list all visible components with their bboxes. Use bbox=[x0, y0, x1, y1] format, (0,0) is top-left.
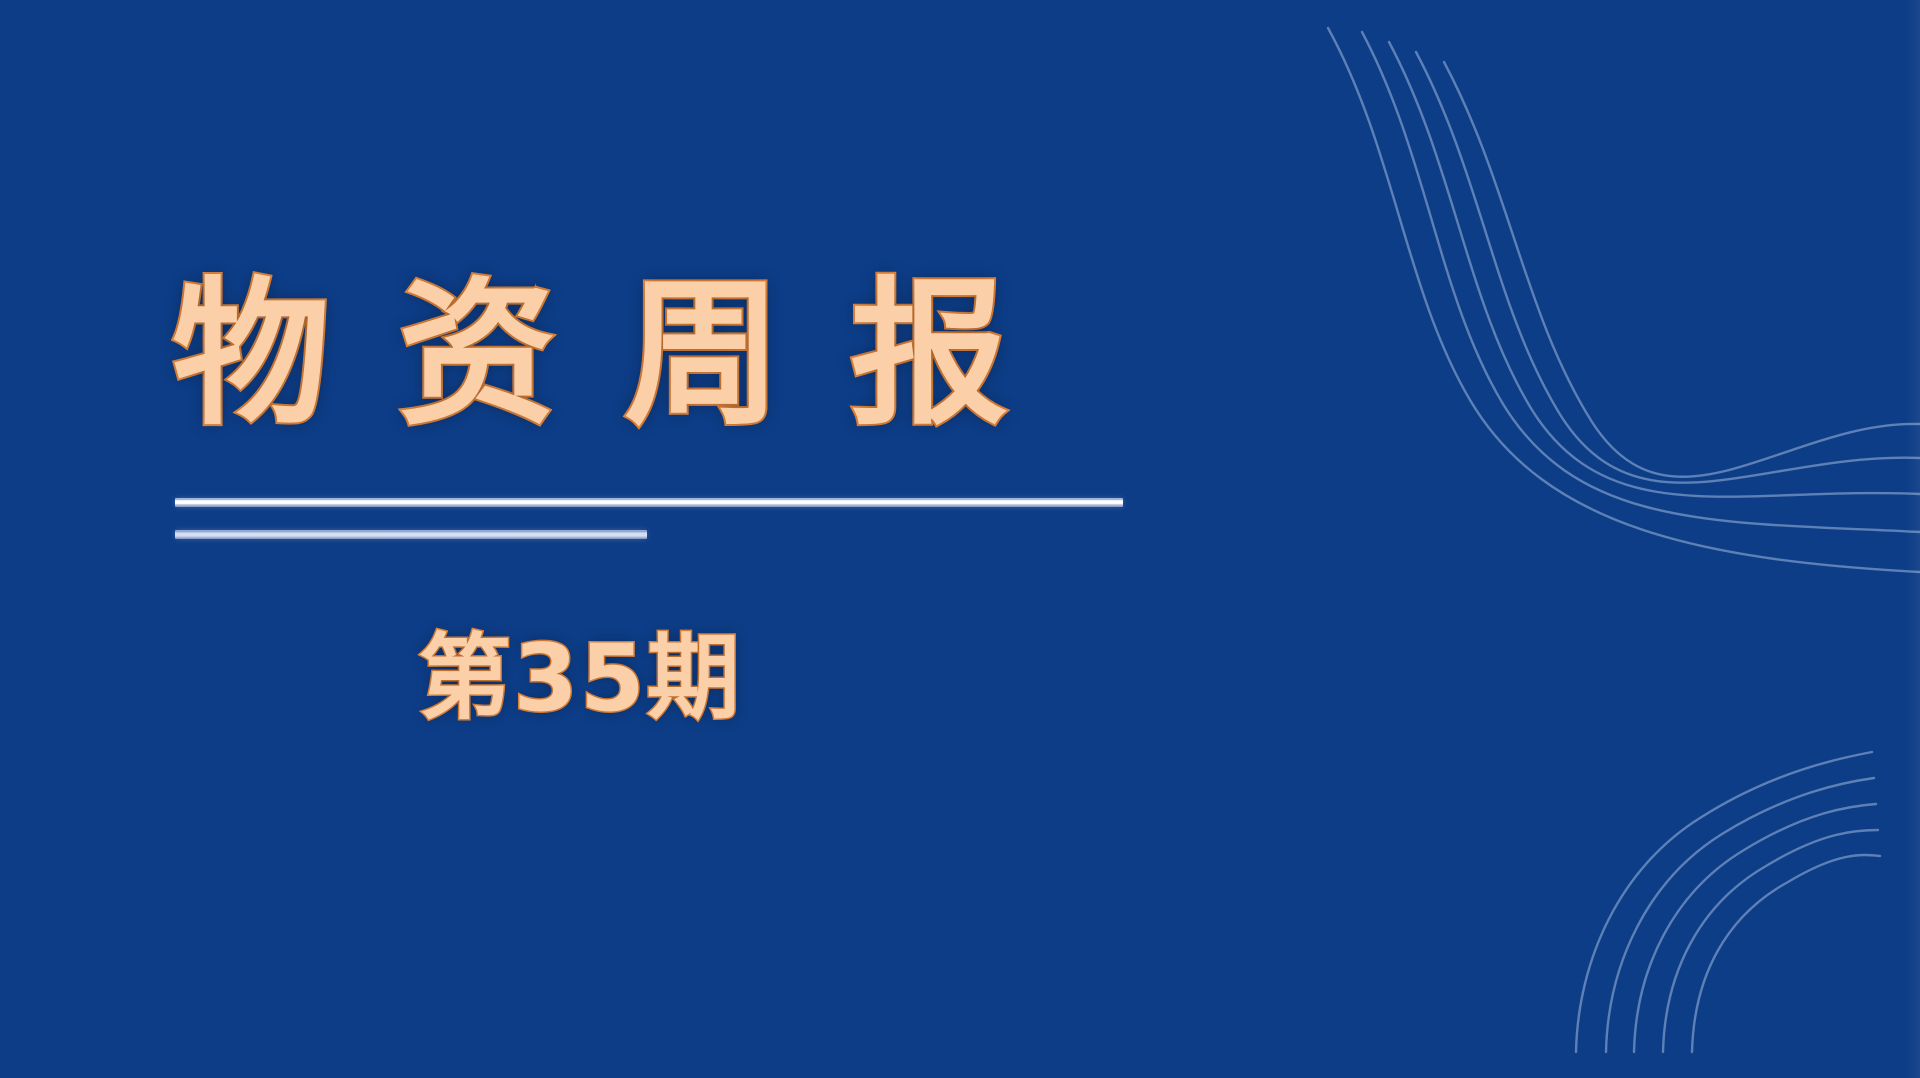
title-block: 物资周报 bbox=[172, 276, 1172, 434]
title-underline-long bbox=[175, 498, 1123, 507]
swoosh-lines-top-right bbox=[0, 0, 1920, 1078]
title-underline-short bbox=[175, 530, 647, 539]
page-title: 物资周报 bbox=[172, 276, 1172, 434]
title-underline-group bbox=[175, 498, 1175, 539]
title-slide: 物资周报 第35期 bbox=[0, 0, 1920, 1078]
issue-number: 第35期 bbox=[0, 632, 1160, 725]
arc-lines-bottom-right bbox=[0, 0, 1920, 1078]
right-edge-sheen bbox=[1906, 0, 1920, 1078]
